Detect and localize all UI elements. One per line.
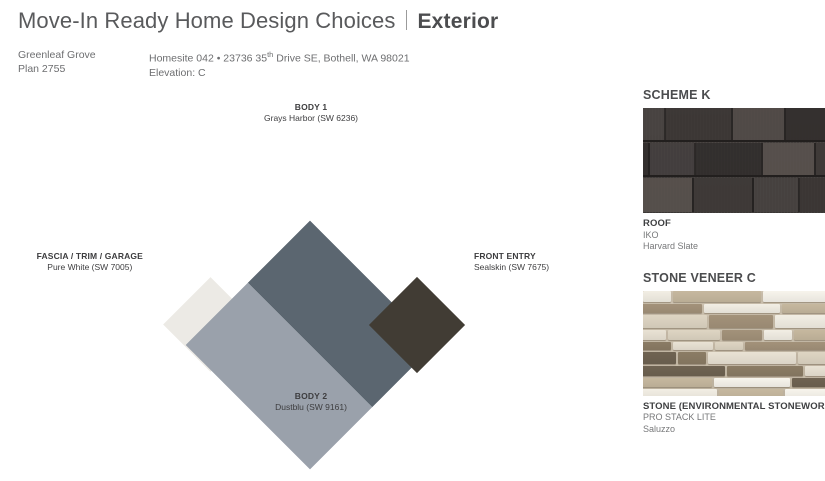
label-fascia-product: Pure White (SW 7005) — [37, 262, 143, 273]
material-block-stone: STONE VENEER C STONE (ENVIRONMENTAL STON… — [643, 271, 825, 436]
roof-caption-brand: IKO — [643, 230, 825, 242]
stone-unit — [798, 352, 825, 364]
label-fascia: FASCIA / TRIM / GARAGE Pure White (SW 70… — [37, 251, 143, 273]
plan-number: Plan 2755 — [18, 62, 96, 76]
label-fascia-title: FASCIA / TRIM / GARAGE — [37, 251, 143, 262]
stone-unit — [668, 330, 720, 340]
stone-unit — [722, 330, 762, 340]
page-title-accent: Exterior — [417, 10, 498, 34]
elevation-label: Elevation: C — [149, 66, 410, 80]
page-title-main: Move-In Ready Home Design Choices — [18, 8, 395, 34]
stone-unit — [745, 342, 825, 350]
stone-unit — [643, 315, 707, 328]
shingle-tab — [650, 143, 696, 175]
label-body1-title: BODY 1 — [264, 102, 358, 113]
label-body2-product: Dustblu (SW 9161) — [275, 402, 347, 413]
stone-unit — [805, 366, 825, 376]
shingle-tab — [800, 178, 825, 212]
label-front-entry-product: Sealskin (SW 7675) — [474, 262, 549, 273]
page-title: Move-In Ready Home Design Choices Exteri… — [18, 8, 618, 34]
stone-unit — [709, 315, 773, 328]
label-front-entry-title: FRONT ENTRY — [474, 251, 549, 262]
label-body1: BODY 1 Grays Harbor (SW 6236) — [264, 102, 358, 124]
shingle-tab — [733, 108, 786, 140]
label-body2: BODY 2 Dustblu (SW 9161) — [275, 391, 347, 413]
stone-unit — [714, 378, 790, 387]
stone-unit — [775, 315, 825, 328]
shingle-tab — [643, 143, 650, 175]
shingle-course — [643, 108, 825, 142]
shingle-course — [643, 143, 825, 177]
roof-caption: ROOF IKO Harvard Slate — [643, 218, 825, 253]
stone-unit — [727, 366, 803, 376]
material-block-roof: SCHEME K ROOF IKO Harvard Slate — [643, 88, 825, 253]
stone-unit — [794, 330, 825, 340]
stone-unit — [643, 342, 671, 350]
shingle-tab — [694, 178, 754, 212]
address-suffix: Drive SE, Bothell, WA 98021 — [273, 53, 409, 65]
scheme-heading-stone: STONE VENEER C — [643, 271, 825, 285]
shingle-tab — [763, 143, 816, 175]
roof-swatch-image — [643, 108, 825, 213]
stone-unit — [673, 342, 713, 350]
stone-swatch-image — [643, 291, 825, 396]
homesite-address: Homesite 042 • 23736 35th Drive SE, Both… — [149, 48, 410, 66]
stone-unit — [763, 291, 825, 302]
shingle-tab — [666, 108, 733, 140]
label-front-entry: FRONT ENTRY Sealskin (SW 7675) — [474, 251, 549, 273]
page-header: Move-In Ready Home Design Choices Exteri… — [18, 8, 618, 78]
stone-unit — [764, 330, 792, 340]
shingle-tab — [643, 108, 666, 140]
scheme-heading-roof: SCHEME K — [643, 88, 825, 102]
stone-caption-title: STONE (ENVIRONMENTAL STONEWORKS) — [643, 401, 825, 413]
stone-unit — [782, 304, 825, 313]
shingle-course — [643, 178, 825, 212]
roof-caption-title: ROOF — [643, 218, 825, 230]
stone-unit — [715, 342, 743, 350]
stone-unit — [785, 389, 825, 396]
homesite-info: Homesite 042 • 23736 35th Drive SE, Both… — [149, 48, 410, 80]
stone-unit — [643, 304, 702, 313]
shingle-tab — [786, 108, 825, 140]
roof-caption-product: Harvard Slate — [643, 241, 825, 253]
stone-caption-brand: PRO STACK LITE — [643, 412, 825, 424]
stone-unit — [792, 378, 825, 387]
stone-unit — [643, 378, 712, 387]
color-scheme-diagram: BODY 1 Grays Harbor (SW 6236) BODY 2 Dus… — [0, 88, 620, 418]
shingle-tab — [696, 143, 763, 175]
stone-unit — [643, 291, 671, 302]
stone-unit — [719, 389, 783, 396]
stone-unit — [678, 352, 706, 364]
stone-unit — [643, 389, 717, 396]
community-name: Greenleaf Grove — [18, 48, 96, 62]
stone-unit — [643, 330, 666, 340]
stone-unit — [708, 352, 796, 364]
shingle-tab — [816, 143, 825, 175]
label-body1-product: Grays Harbor (SW 6236) — [264, 113, 358, 124]
stone-unit — [704, 304, 780, 313]
stone-caption-product: Saluzzo — [643, 424, 825, 436]
stone-unit — [643, 366, 725, 376]
label-body2-title: BODY 2 — [275, 391, 347, 402]
shingle-tab — [643, 178, 694, 212]
stone-unit — [673, 291, 761, 302]
shingle-tab — [754, 178, 800, 212]
material-panel: SCHEME K ROOF IKO Harvard Slate STONE VE… — [643, 88, 825, 435]
stone-unit — [643, 352, 676, 364]
address-prefix: Homesite 042 • 23736 35 — [149, 53, 267, 65]
title-divider — [406, 10, 407, 30]
community-info: Greenleaf Grove Plan 2755 — [18, 48, 96, 76]
stone-caption: STONE (ENVIRONMENTAL STONEWORKS) PRO STA… — [643, 401, 825, 436]
subheader: Greenleaf Grove Plan 2755 Homesite 042 •… — [18, 48, 618, 78]
